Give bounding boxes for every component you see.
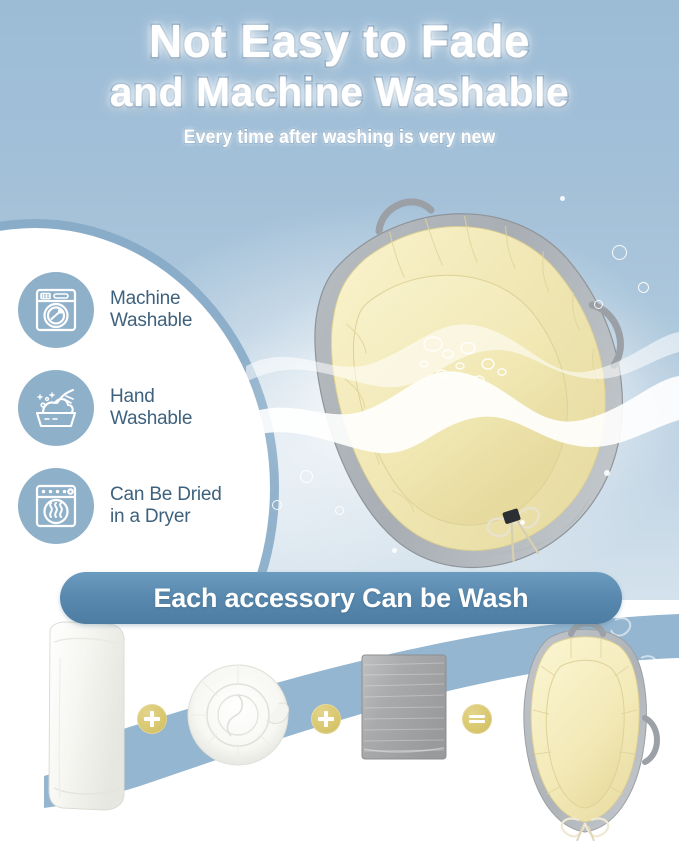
- hero-product-image: [276, 168, 676, 570]
- product-infographic: Not Easy to Fade and Machine Washable Ev…: [0, 0, 679, 849]
- accessory-assembled-baby-lounger: [505, 614, 665, 847]
- tumble-dryer-icon: [18, 468, 94, 544]
- feature-label-line1: Hand: [110, 386, 192, 408]
- feature-label-line2: Washable: [110, 408, 192, 430]
- accessories-section: [0, 600, 679, 849]
- hero-subtitle: Every time after washing is very new: [20, 127, 658, 149]
- accessory-removable-cover: [44, 618, 130, 819]
- plus-badge: [137, 704, 167, 734]
- feature-item-machine-washable: Machine Washable: [18, 272, 268, 348]
- feature-label-line2: Washable: [110, 310, 192, 332]
- equals-top-bar: [469, 715, 485, 719]
- feature-item-dryer: Can Be Dried in a Dryer: [18, 468, 268, 544]
- hand-wash-basin-icon: [18, 370, 94, 446]
- accessories-banner-text: Each accessory Can be Wash: [154, 583, 529, 614]
- plus-badge: [311, 704, 341, 734]
- accessory-rolled-mattress-insert: [183, 660, 293, 775]
- equals-bottom-bar: [469, 720, 485, 724]
- feature-label-line2: in a Dryer: [110, 506, 222, 528]
- accessory-equation-row: [0, 600, 679, 849]
- accessories-banner: Each accessory Can be Wash: [60, 572, 622, 624]
- plus-vertical-bar: [324, 711, 328, 727]
- feature-item-hand-washable: Hand Washable: [18, 370, 268, 446]
- feature-label-dryer: Can Be Dried in a Dryer: [110, 484, 222, 529]
- plus-vertical-bar: [150, 711, 154, 727]
- washing-machine-icon: [18, 272, 94, 348]
- feature-label-hand-washable: Hand Washable: [110, 386, 192, 431]
- hero-title-line1: Not Easy to Fade: [0, 18, 679, 64]
- equals-badge: [462, 704, 492, 734]
- feature-list: Machine Washable: [18, 272, 268, 566]
- hero-title-block: Not Easy to Fade and Machine Washable Ev…: [0, 18, 679, 149]
- accessory-grey-fabric-sheet: [360, 653, 448, 768]
- feature-label-line1: Machine: [110, 288, 192, 310]
- feature-label-machine-washable: Machine Washable: [110, 288, 192, 333]
- hero-section: Not Easy to Fade and Machine Washable Ev…: [0, 0, 679, 600]
- feature-label-line1: Can Be Dried: [110, 484, 222, 506]
- hero-title-line2: and Machine Washable: [0, 72, 679, 113]
